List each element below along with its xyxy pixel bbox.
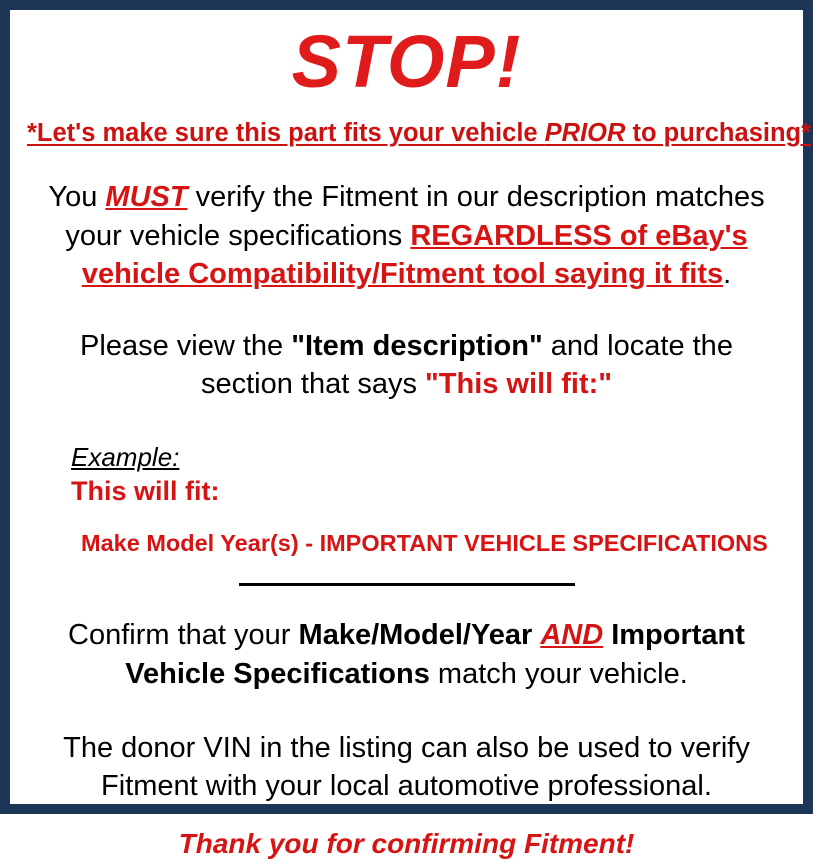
donor-vin-paragraph: The donor VIN in the listing can also be… — [27, 729, 786, 806]
thank-you-line: Thank you for confirming Fitment! — [27, 827, 786, 861]
section-divider — [239, 583, 575, 586]
tagline-emphasis-prior: PRIOR — [545, 119, 626, 147]
must-part3: . — [723, 258, 731, 290]
confirm-part4: match your vehicle. — [430, 658, 688, 690]
tagline: *Let's make sure this part fits your veh… — [27, 119, 786, 148]
confirm-part3 — [603, 619, 611, 651]
example-spec-line: Make Model Year(s) - IMPORTANT VEHICLE S… — [71, 529, 786, 557]
must-emphasis-must: MUST — [105, 181, 187, 213]
tagline-prefix: *Let's make sure this part fits your veh… — [27, 119, 545, 147]
view-emphasis-this-will-fit: "This will fit:" — [425, 368, 612, 400]
section-divider-wrap — [27, 583, 786, 586]
tagline-suffix: to purchasing* — [625, 119, 811, 147]
confirm-emphasis-and: AND — [540, 619, 603, 651]
example-fit-heading: This will fit: — [71, 475, 786, 507]
confirm-paragraph: Confirm that your Make/Model/Year AND Im… — [27, 616, 786, 693]
fitment-notice-frame: STOP! *Let's make sure this part fits yo… — [0, 0, 813, 814]
must-part1: You — [48, 181, 105, 213]
view-part1: Please view the — [80, 330, 291, 362]
fitment-notice-body: STOP! *Let's make sure this part fits yo… — [10, 10, 803, 804]
view-description-paragraph: Please view the "Item description" and l… — [27, 327, 786, 404]
must-verify-paragraph: You MUST verify the Fitment in our descr… — [27, 178, 786, 293]
confirm-part1: Confirm that your — [68, 619, 298, 651]
example-block: Example: This will fit: Make Model Year(… — [27, 442, 786, 558]
confirm-emphasis-make-model-year: Make/Model/Year — [299, 619, 533, 651]
view-emphasis-item-description: "Item description" — [291, 330, 542, 362]
example-label: Example: — [71, 442, 786, 473]
stop-title: STOP! — [27, 13, 786, 105]
